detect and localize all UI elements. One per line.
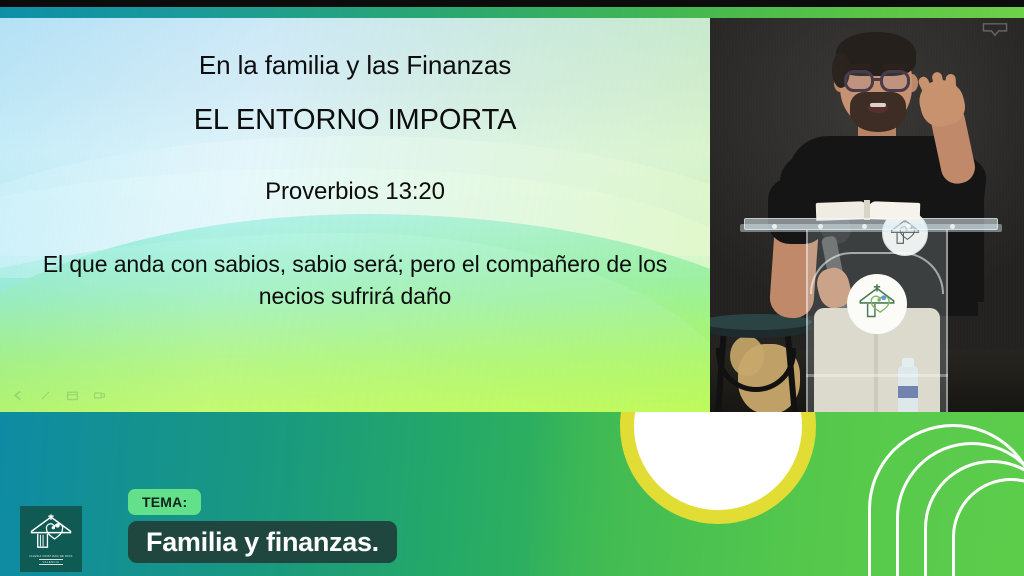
podium-bolt-5: [950, 224, 955, 229]
slide-verse-text: El que anda con sabios, sabio será; pero…: [0, 248, 710, 312]
more-options-icon[interactable]: [93, 389, 106, 402]
speaker-eyebrow-right: [882, 64, 908, 69]
podium-bolt-4: [906, 224, 911, 229]
speaker-eyebrow-left: [845, 64, 871, 69]
podium-church-logo: [847, 274, 907, 334]
slide-scripture-reference: Proverbios 13:20: [0, 178, 710, 206]
eyeglasses-lens-right: [880, 70, 910, 92]
podium-shelf-line: [806, 374, 948, 377]
banner-logo-caption-2: VALENCIA: [39, 559, 64, 565]
top-black-bar: [0, 0, 1024, 7]
speaker-finger-3: [946, 74, 957, 101]
pen-icon[interactable]: [39, 389, 52, 402]
eyeglasses-bridge: [873, 78, 882, 81]
church-house-logo-icon: [28, 513, 74, 553]
podium-top-surface: [744, 218, 998, 230]
presenter-toolbar[interactable]: [12, 389, 106, 402]
back-arrow-icon[interactable]: [12, 389, 25, 402]
speaker-teeth: [870, 103, 886, 107]
eyeglasses-lens-left: [844, 70, 874, 92]
slide-title-line-1: En la familia y las Finanzas: [0, 50, 710, 81]
broadcast-stage: En la familia y las Finanzas EL ENTORNO …: [0, 0, 1024, 576]
speaker-video-feed[interactable]: [710, 18, 1024, 412]
open-bible-spine: [864, 200, 870, 220]
tema-label-badge: TEMA:: [128, 489, 201, 515]
channel-watermark-icon: [980, 22, 1010, 38]
slide-title-line-2: EL ENTORNO IMPORTA: [0, 104, 710, 137]
top-gradient-ribbon: [0, 7, 1024, 18]
lower-third-banner: IGLESIA CRISTIANA DE DIOS VALENCIA TEMA:…: [0, 412, 1024, 576]
tema-title-plate: Familia y finanzas.: [128, 521, 397, 563]
podium-bolt-2: [818, 224, 823, 229]
slides-grid-icon[interactable]: [66, 389, 79, 402]
slide-text-block: En la familia y las Finanzas EL ENTORNO …: [0, 18, 710, 412]
podium-bolt-1: [772, 224, 777, 229]
podium-bolt-3: [862, 224, 867, 229]
banner-church-logo: IGLESIA CRISTIANA DE DIOS VALENCIA: [20, 506, 82, 572]
banner-logo-caption-1: IGLESIA CRISTIANA DE DIOS: [29, 555, 72, 558]
church-house-logo-icon: [852, 279, 902, 329]
presentation-slide[interactable]: En la familia y las Finanzas EL ENTORNO …: [0, 18, 710, 412]
